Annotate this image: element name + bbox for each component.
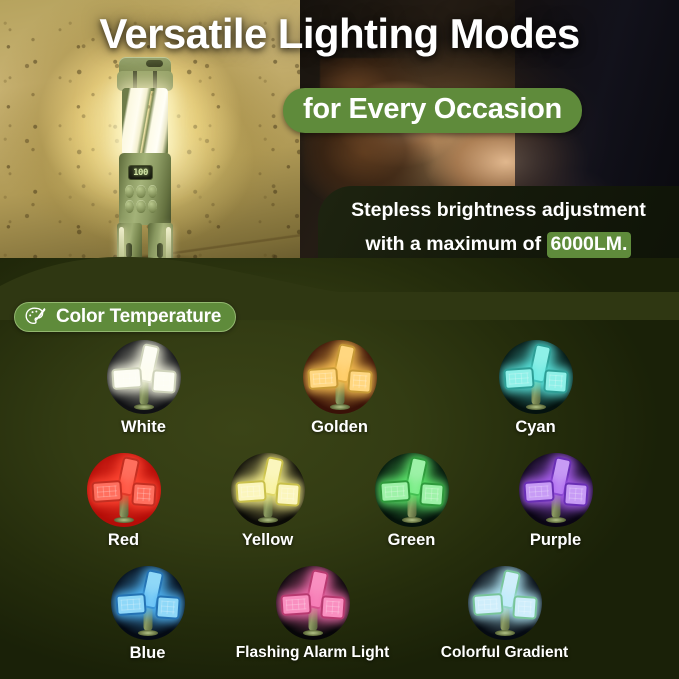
- color-mode-label: Purple: [530, 531, 581, 550]
- palette-icon: [25, 307, 47, 327]
- lamp-head-left: [472, 593, 503, 616]
- lamp-base: [526, 404, 546, 410]
- led-grid: [517, 601, 532, 615]
- color-mode-cyan[interactable]: Cyan: [488, 340, 584, 437]
- led-grid: [285, 598, 306, 610]
- lantern-display-value: 100: [133, 168, 148, 178]
- lantern-key: [148, 185, 157, 198]
- color-mode-grid: White Golden: [0, 340, 679, 663]
- lamp-illustration: [375, 453, 449, 527]
- color-mode-colorful-gradient[interactable]: Colorful Gradient: [430, 566, 580, 662]
- led-grid: [548, 375, 563, 389]
- lamp-head-right: [347, 369, 373, 394]
- led-grid: [312, 372, 333, 384]
- led-grid: [325, 601, 340, 615]
- lamp-head-left: [235, 480, 266, 503]
- lamp-base: [546, 517, 566, 523]
- color-mode-label: Golden: [311, 418, 368, 437]
- color-mode-label: Colorful Gradient: [441, 644, 568, 662]
- color-mode-label: Red: [108, 531, 139, 550]
- led-grid: [136, 488, 151, 502]
- lamp-illustration: [468, 566, 542, 640]
- swatch-disc: [107, 340, 181, 414]
- led-grid: [384, 485, 405, 497]
- swatch-disc: [519, 453, 593, 527]
- lantern-key: [125, 200, 134, 213]
- color-mode-flashing-alarm[interactable]: Flashing Alarm Light: [238, 566, 388, 662]
- led-grid: [240, 485, 261, 497]
- color-mode-label: Cyan: [515, 418, 555, 437]
- color-mode-white[interactable]: White: [96, 340, 192, 437]
- lantern-key: [148, 200, 157, 213]
- color-mode-label: Blue: [130, 644, 166, 663]
- lamp-base: [134, 404, 154, 410]
- lantern-power-button: [146, 60, 163, 67]
- swatch-disc: [468, 566, 542, 640]
- lamp-head-left: [379, 480, 410, 503]
- color-mode-row: Blue Flashing Alarm Light: [0, 566, 679, 663]
- lamp-head-left: [115, 593, 146, 616]
- led-grid: [424, 488, 439, 502]
- led-grid: [116, 372, 137, 384]
- led-grid: [352, 375, 367, 389]
- led-grid: [477, 598, 498, 610]
- lamp-base: [303, 630, 323, 636]
- lantern-key: [125, 185, 134, 198]
- lumens-chip: 6000LM.: [547, 232, 632, 258]
- swatch-disc: [276, 566, 350, 640]
- swatch-disc: [375, 453, 449, 527]
- lamp-base: [402, 517, 422, 523]
- page-title: Versatile Lighting Modes: [0, 10, 679, 58]
- color-mode-blue[interactable]: Blue: [100, 566, 196, 663]
- brightness-line-1: Stepless brightness adjustment: [318, 199, 679, 222]
- color-mode-red[interactable]: Red: [76, 453, 172, 550]
- lamp-base: [330, 404, 350, 410]
- lamp-head-left: [307, 367, 338, 390]
- lamp-base: [495, 630, 515, 636]
- brightness-line-2-text: with a maximum of: [366, 233, 542, 255]
- swatch-disc: [499, 340, 573, 414]
- color-mode-row: White Golden: [0, 340, 679, 437]
- camping-lantern-product: 100: [109, 57, 181, 267]
- swatch-disc: [303, 340, 377, 414]
- led-grid: [568, 488, 583, 502]
- color-temperature-badge: Color Temperature: [14, 302, 236, 332]
- led-grid: [280, 488, 295, 502]
- color-mode-row: Red Yellow: [0, 453, 679, 550]
- swatch-disc: [111, 566, 185, 640]
- led-grid: [160, 601, 175, 615]
- swatch-disc: [231, 453, 305, 527]
- color-mode-purple[interactable]: Purple: [508, 453, 604, 550]
- led-grid: [508, 372, 529, 384]
- lamp-head-left: [280, 593, 311, 616]
- led-grid: [528, 485, 549, 497]
- led-grid: [156, 375, 171, 389]
- lamp-head-right: [419, 482, 445, 507]
- lamp-head-right: [543, 369, 569, 394]
- led-grid: [96, 485, 117, 497]
- lamp-head-right: [155, 595, 181, 620]
- color-mode-golden[interactable]: Golden: [292, 340, 388, 437]
- lamp-illustration: [303, 340, 377, 414]
- color-temperature-label: Color Temperature: [56, 306, 221, 328]
- infographic-canvas: 100 Versatile Lighting Modes for Every O…: [0, 0, 679, 679]
- color-mode-green[interactable]: Green: [364, 453, 460, 550]
- lamp-illustration: [499, 340, 573, 414]
- swatch-disc: [87, 453, 161, 527]
- led-grid: [120, 598, 141, 610]
- lamp-base: [114, 517, 134, 523]
- lamp-head-left: [91, 480, 122, 503]
- lantern-key: [136, 185, 145, 198]
- lamp-head-left: [503, 367, 534, 390]
- lamp-illustration: [107, 340, 181, 414]
- lamp-base: [258, 517, 278, 523]
- subtitle-badge: for Every Occasion: [283, 88, 582, 133]
- brightness-line-2: with a maximum of 6000LM.: [318, 232, 679, 258]
- lantern-key: [136, 200, 145, 213]
- lamp-head-left: [523, 480, 554, 503]
- lamp-illustration: [276, 566, 350, 640]
- lamp-illustration: [519, 453, 593, 527]
- color-mode-label: Yellow: [242, 531, 293, 550]
- lamp-illustration: [87, 453, 161, 527]
- lantern-light-panel: [122, 88, 168, 156]
- lamp-head-right: [563, 482, 589, 507]
- lantern-keypad: [125, 185, 157, 213]
- lantern-display: 100: [128, 165, 153, 180]
- lamp-head-right: [131, 482, 157, 507]
- lamp-head-right: [151, 369, 177, 394]
- lamp-illustration: [231, 453, 305, 527]
- lamp-head-left: [111, 367, 142, 390]
- color-mode-label: White: [121, 418, 166, 437]
- lamp-head-right: [320, 595, 346, 620]
- lamp-head-right: [275, 482, 301, 507]
- lamp-base: [138, 630, 158, 636]
- color-mode-yellow[interactable]: Yellow: [220, 453, 316, 550]
- color-temperature-section: Color Temperature W: [0, 258, 679, 679]
- color-mode-label: Flashing Alarm Light: [236, 644, 390, 662]
- color-mode-label: Green: [388, 531, 436, 550]
- lamp-illustration: [111, 566, 185, 640]
- lamp-head-right: [512, 595, 538, 620]
